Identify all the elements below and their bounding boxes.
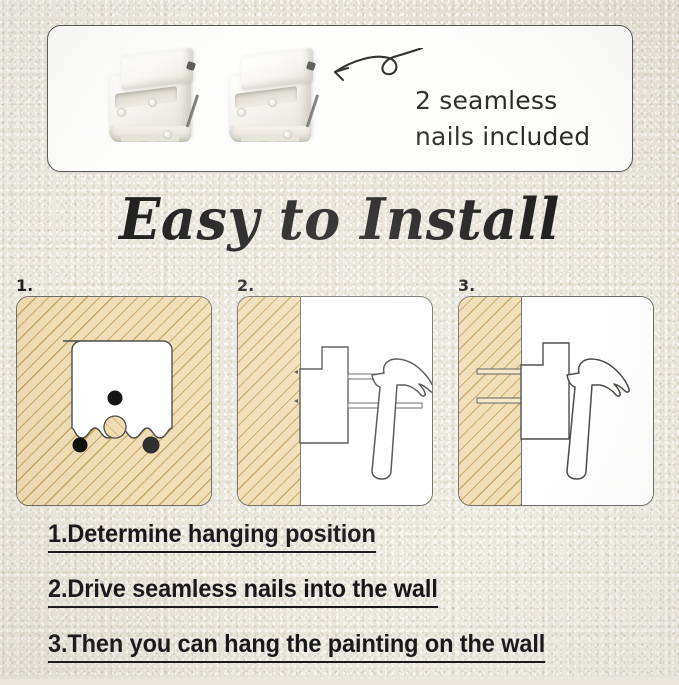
mount-dot-right: [143, 437, 160, 454]
step-1-number: 1.: [16, 276, 33, 295]
page-title: Easy to Install: [17, 186, 662, 253]
nail-dimple: [237, 108, 246, 117]
step-3-number: 3.: [458, 276, 475, 295]
nails-caption-line-2: nails included: [415, 119, 620, 155]
nail-dimple: [117, 108, 126, 117]
hanger-plate-illustration: [17, 297, 211, 505]
hanger-side-view: [300, 347, 348, 443]
hanger-side-view-installed: [521, 343, 569, 439]
seamless-nail-product-1: [103, 46, 207, 146]
hammer-icon: [567, 359, 629, 479]
hanger-installed-and-hammer-illustration: [459, 297, 653, 505]
step-1-panel: [16, 296, 212, 506]
nail-dimple: [148, 98, 157, 107]
nails-caption-line-1: 2 seamless: [415, 83, 620, 119]
instruction-item-3: 3.Then you can hang the painting on the …: [48, 630, 545, 663]
hammer-icon: [372, 359, 432, 479]
nails-caption: 2 seamless nails included: [415, 83, 620, 154]
hanger-and-hammer-illustration: [238, 297, 432, 505]
step-2-panel: [237, 296, 433, 506]
instruction-item-1: 1.Determine hanging position: [48, 520, 376, 553]
instruction-item-2: 2.Drive seamless nails into the wall: [48, 575, 438, 608]
center-hole: [104, 416, 126, 438]
nail-lower-embedded: [477, 398, 523, 403]
nail-foot: [111, 126, 191, 142]
nail-upper-embedded: [477, 369, 523, 374]
nail-dimple: [283, 130, 292, 139]
seamless-nail-product-2: [223, 46, 327, 146]
seamless-nails-card: 2 seamless nails included: [47, 25, 633, 172]
nail-dimple: [268, 98, 277, 107]
instruction-list: 1.Determine hanging position 2.Drive sea…: [48, 520, 648, 685]
nail-foot: [231, 126, 311, 142]
nail-dimple: [163, 130, 172, 139]
mount-dot-left: [73, 438, 88, 453]
step-2-number: 2.: [237, 276, 254, 295]
step-3-panel: [458, 296, 654, 506]
curved-arrow-icon: [323, 48, 423, 90]
mount-dot-top: [108, 391, 123, 406]
